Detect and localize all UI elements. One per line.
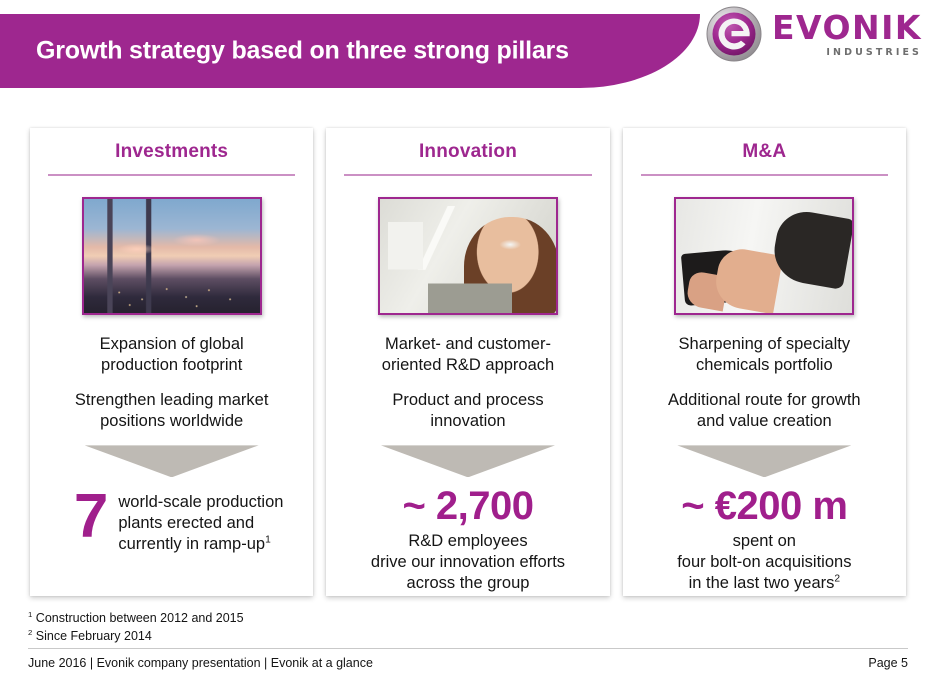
pillar-card-investments: Investments Expansion of globalproductio… xyxy=(30,128,313,596)
logo-wordmark: EVONIK xyxy=(772,11,922,44)
evonik-e-emblem-icon xyxy=(705,5,763,63)
metric-value: ~ €200 m xyxy=(631,486,898,526)
pillar-card-innovation: Innovation Market- and customer-oriented… xyxy=(326,128,609,596)
header-banner: Growth strategy based on three strong pi… xyxy=(0,14,700,88)
card-title: Investments xyxy=(115,142,228,163)
bullet-item: Expansion of globalproduction footprint xyxy=(40,334,303,376)
pillar-card-mna: M&A Sharpening of specialtychemicals por… xyxy=(623,128,906,596)
title-divider xyxy=(344,174,591,176)
footnote-text: Construction between 2012 and 2015 xyxy=(36,611,244,625)
metric-description: R&D employeesdrive our innovation effort… xyxy=(334,531,601,593)
metric-description-text: world-scale productionplants erected and… xyxy=(118,493,283,553)
footnote-marker: 1 xyxy=(28,610,32,619)
bullet-item: Additional route for growthand value cre… xyxy=(633,390,896,432)
footnote-marker: 2 xyxy=(28,628,32,637)
metric-description: spent onfour bolt-on acquisitionsin the … xyxy=(631,531,898,593)
lab-scientist-photo xyxy=(378,197,558,315)
bullet-item: Sharpening of specialtychemicals portfol… xyxy=(633,334,896,376)
bullet-item: Product and processinnovation xyxy=(336,390,599,432)
title-divider xyxy=(641,174,888,176)
footnote-ref: 2 xyxy=(834,573,840,584)
slide: Growth strategy based on three strong pi… xyxy=(0,0,936,677)
metric-block: ~ 2,700 R&D employeesdrive our innovatio… xyxy=(326,486,609,593)
card-title: Innovation xyxy=(419,142,517,163)
down-chevron-arrow-icon xyxy=(677,445,851,477)
logo-tagline: INDUSTRIES xyxy=(826,48,922,58)
title-divider xyxy=(48,174,295,176)
metric-description-text: spent onfour bolt-on acquisitionsin the … xyxy=(677,532,851,592)
footer-divider xyxy=(28,648,908,649)
page-title: Growth strategy based on three strong pi… xyxy=(36,37,569,66)
footnote-row: 1 Construction between 2012 and 2015 xyxy=(28,610,244,628)
bullet-list: Market- and customer-oriented R&D approa… xyxy=(326,334,609,432)
card-title: M&A xyxy=(742,142,786,163)
footnotes: 1 Construction between 2012 and 2015 2 S… xyxy=(28,610,244,646)
footnote-ref: 1 xyxy=(265,534,271,545)
chemical-plant-photo xyxy=(82,197,262,315)
down-chevron-arrow-icon xyxy=(85,445,259,477)
metric-block: ~ €200 m spent onfour bolt-on acquisitio… xyxy=(623,486,906,593)
down-chevron-arrow-icon xyxy=(381,445,555,477)
footer-meta: June 2016 | Evonik company presentation … xyxy=(28,656,373,670)
metric-value: 7 xyxy=(74,486,107,548)
bullet-list: Expansion of globalproduction footprint … xyxy=(30,334,313,432)
footnote-row: 2 Since February 2014 xyxy=(28,628,244,646)
metric-description-text: R&D employeesdrive our innovation effort… xyxy=(371,532,565,592)
bullet-item: Market- and customer-oriented R&D approa… xyxy=(336,334,599,376)
page-number: Page 5 xyxy=(868,656,908,670)
bullet-list: Sharpening of specialtychemicals portfol… xyxy=(623,334,906,432)
bullet-item: Strengthen leading marketpositions world… xyxy=(40,390,303,432)
metric-block: 7 world-scale productionplants erected a… xyxy=(30,486,313,554)
evonik-logo: EVONIK INDUSTRIES xyxy=(705,5,922,63)
pillar-cards: Investments Expansion of globalproductio… xyxy=(30,128,906,596)
logo-wordmark-group: EVONIK INDUSTRIES xyxy=(772,11,922,58)
footnote-text: Since February 2014 xyxy=(36,629,152,643)
metric-description: world-scale productionplants erected and… xyxy=(118,486,283,554)
metric-value: ~ 2,700 xyxy=(334,486,601,526)
handshake-photo xyxy=(674,197,854,315)
